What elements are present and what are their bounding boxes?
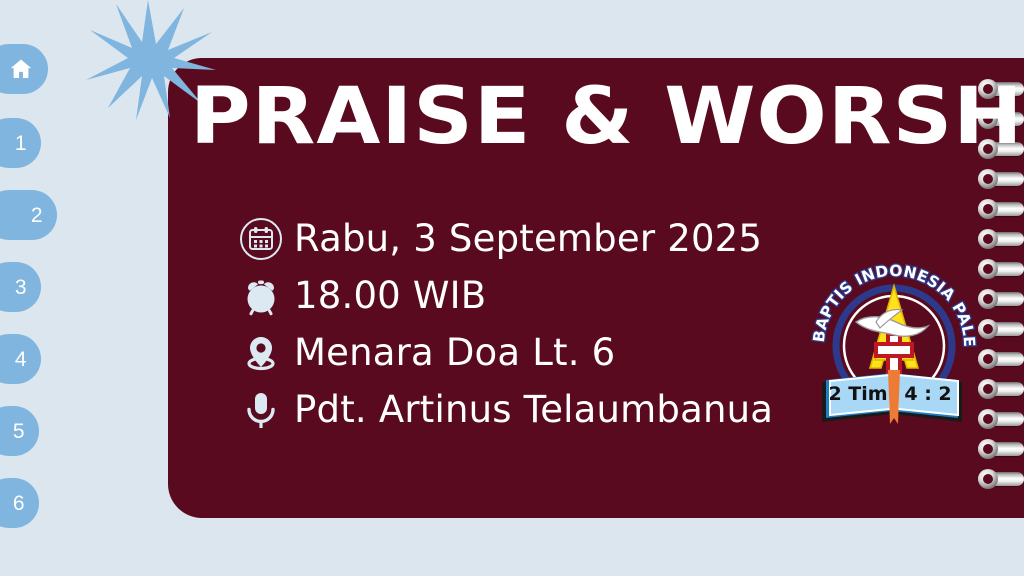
- sidebar-item-6[interactable]: 6: [0, 478, 39, 528]
- binding-ring: [978, 442, 1024, 456]
- event-detail-text: Menara Doa Lt. 6: [294, 334, 615, 371]
- binding-ring: [978, 172, 1024, 186]
- sidebar-item-4[interactable]: 4: [0, 334, 41, 384]
- binding-ring: [978, 322, 1024, 336]
- sidebar-item-5[interactable]: 5: [0, 406, 39, 456]
- sidebar-item-2[interactable]: 2: [0, 190, 57, 240]
- sidebar-item-3[interactable]: 3: [0, 262, 41, 312]
- slide-canvas: 1 2 3 4 5 6: [0, 0, 1024, 576]
- page-title: PRAISE & WORSHIP: [190, 78, 1024, 156]
- event-detail-text: Pdt. Artinus Telaumbanua: [294, 391, 773, 428]
- microphone-icon: [238, 387, 284, 433]
- logo-book-right-text: 4 : 2: [904, 383, 951, 405]
- logo-book-left-text: 2 Tim: [828, 383, 887, 405]
- location-pin-icon: [238, 330, 284, 376]
- sidebar-item-label: 1: [15, 133, 27, 154]
- event-detail-speaker: Pdt. Artinus Telaumbanua: [238, 381, 773, 438]
- event-detail-text: Rabu, 3 September 2025: [294, 220, 762, 257]
- church-logo: GEREJA BAPTIS INDONESIA PALEMBANG 2 Tim …: [806, 242, 982, 438]
- event-details-list: Rabu, 3 September 2025 18.00 WIB: [238, 210, 773, 438]
- home-icon: [8, 56, 34, 82]
- binding-ring: [978, 292, 1024, 306]
- alarm-clock-icon: [238, 273, 284, 319]
- event-detail-location: Menara Doa Lt. 6: [238, 324, 773, 381]
- sidebar-item-label: 6: [13, 493, 25, 514]
- binding-ring: [978, 202, 1024, 216]
- event-detail-time: 18.00 WIB: [238, 267, 773, 324]
- binding-ring: [978, 352, 1024, 366]
- sidebar-item-1[interactable]: 1: [0, 118, 41, 168]
- sidebar-item-label: 3: [15, 277, 27, 298]
- binding-ring: [978, 232, 1024, 246]
- sidebar-item-label: 2: [31, 205, 43, 226]
- sidebar-item-label: 5: [13, 421, 25, 442]
- binding-ring: [978, 382, 1024, 396]
- sidebar-item-label: 4: [15, 349, 27, 370]
- binding-ring: [978, 262, 1024, 276]
- sidebar-item-home[interactable]: [0, 44, 48, 94]
- binding-ring: [978, 472, 1024, 486]
- event-detail-text: 18.00 WIB: [294, 277, 486, 314]
- binding-ring: [978, 412, 1024, 426]
- calendar-icon: [238, 216, 284, 262]
- event-detail-date: Rabu, 3 September 2025: [238, 210, 773, 267]
